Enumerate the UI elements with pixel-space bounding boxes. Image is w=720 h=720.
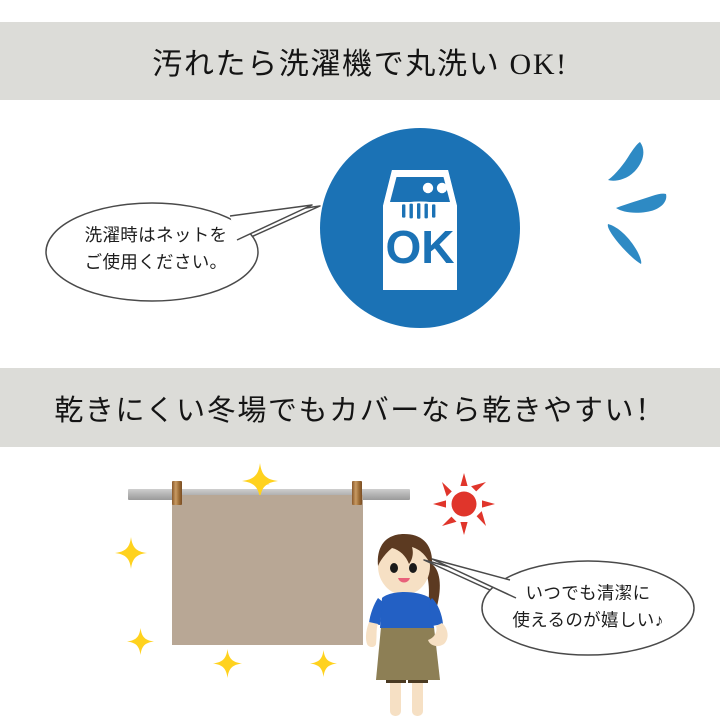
banner-washable: 汚れたら洗濯機で丸洗い OK! [0, 22, 720, 100]
speech-bubble-net: 洗濯時はネットを ご使用ください。 [44, 196, 268, 304]
washing-machine-ok-icon: OK [320, 128, 520, 328]
speech-bubble-clean: いつでも清潔に 使えるのが嬉しい♪ [470, 556, 698, 658]
sparkle-bottom-left [213, 649, 242, 678]
woman-character [356, 528, 470, 720]
sparkle-left-lower [127, 628, 154, 655]
speech-bubble-net-text: 洗濯時はネットを ご使用ください。 [44, 196, 268, 304]
sparkle-bottom-right [252, 475, 270, 493]
clothespin-right [352, 481, 362, 505]
water-splash-icon [596, 136, 676, 266]
hanging-cover [172, 495, 363, 645]
sparkle-bottom-center [310, 650, 337, 677]
clothespin-left [172, 481, 182, 505]
banner-washable-text: 汚れたら洗濯機で丸洗い OK! [152, 39, 568, 83]
banner-quick-dry: 乾きにくい冬場でもカバーなら乾きやすい！ [0, 368, 720, 447]
infographic-page: 汚れたら洗濯機で丸洗い OK! OK [0, 0, 720, 720]
bubble-net-line-2: ご使用ください。 [85, 249, 228, 276]
bubble-net-line-1: 洗濯時はネットを [85, 222, 228, 249]
bubble-clean-line-2: 使えるのが嬉しい♪ [512, 607, 663, 634]
banner-quick-dry-text: 乾きにくい冬場でもカバーなら乾きやすい！ [54, 387, 665, 429]
bubble-clean-line-1: いつでも清潔に [526, 580, 651, 607]
speech-bubble-clean-text: いつでも清潔に 使えるのが嬉しい♪ [470, 556, 698, 658]
sparkle-left-upper [115, 537, 147, 569]
svg-text:OK: OK [386, 221, 455, 273]
sun-icon [433, 473, 495, 535]
